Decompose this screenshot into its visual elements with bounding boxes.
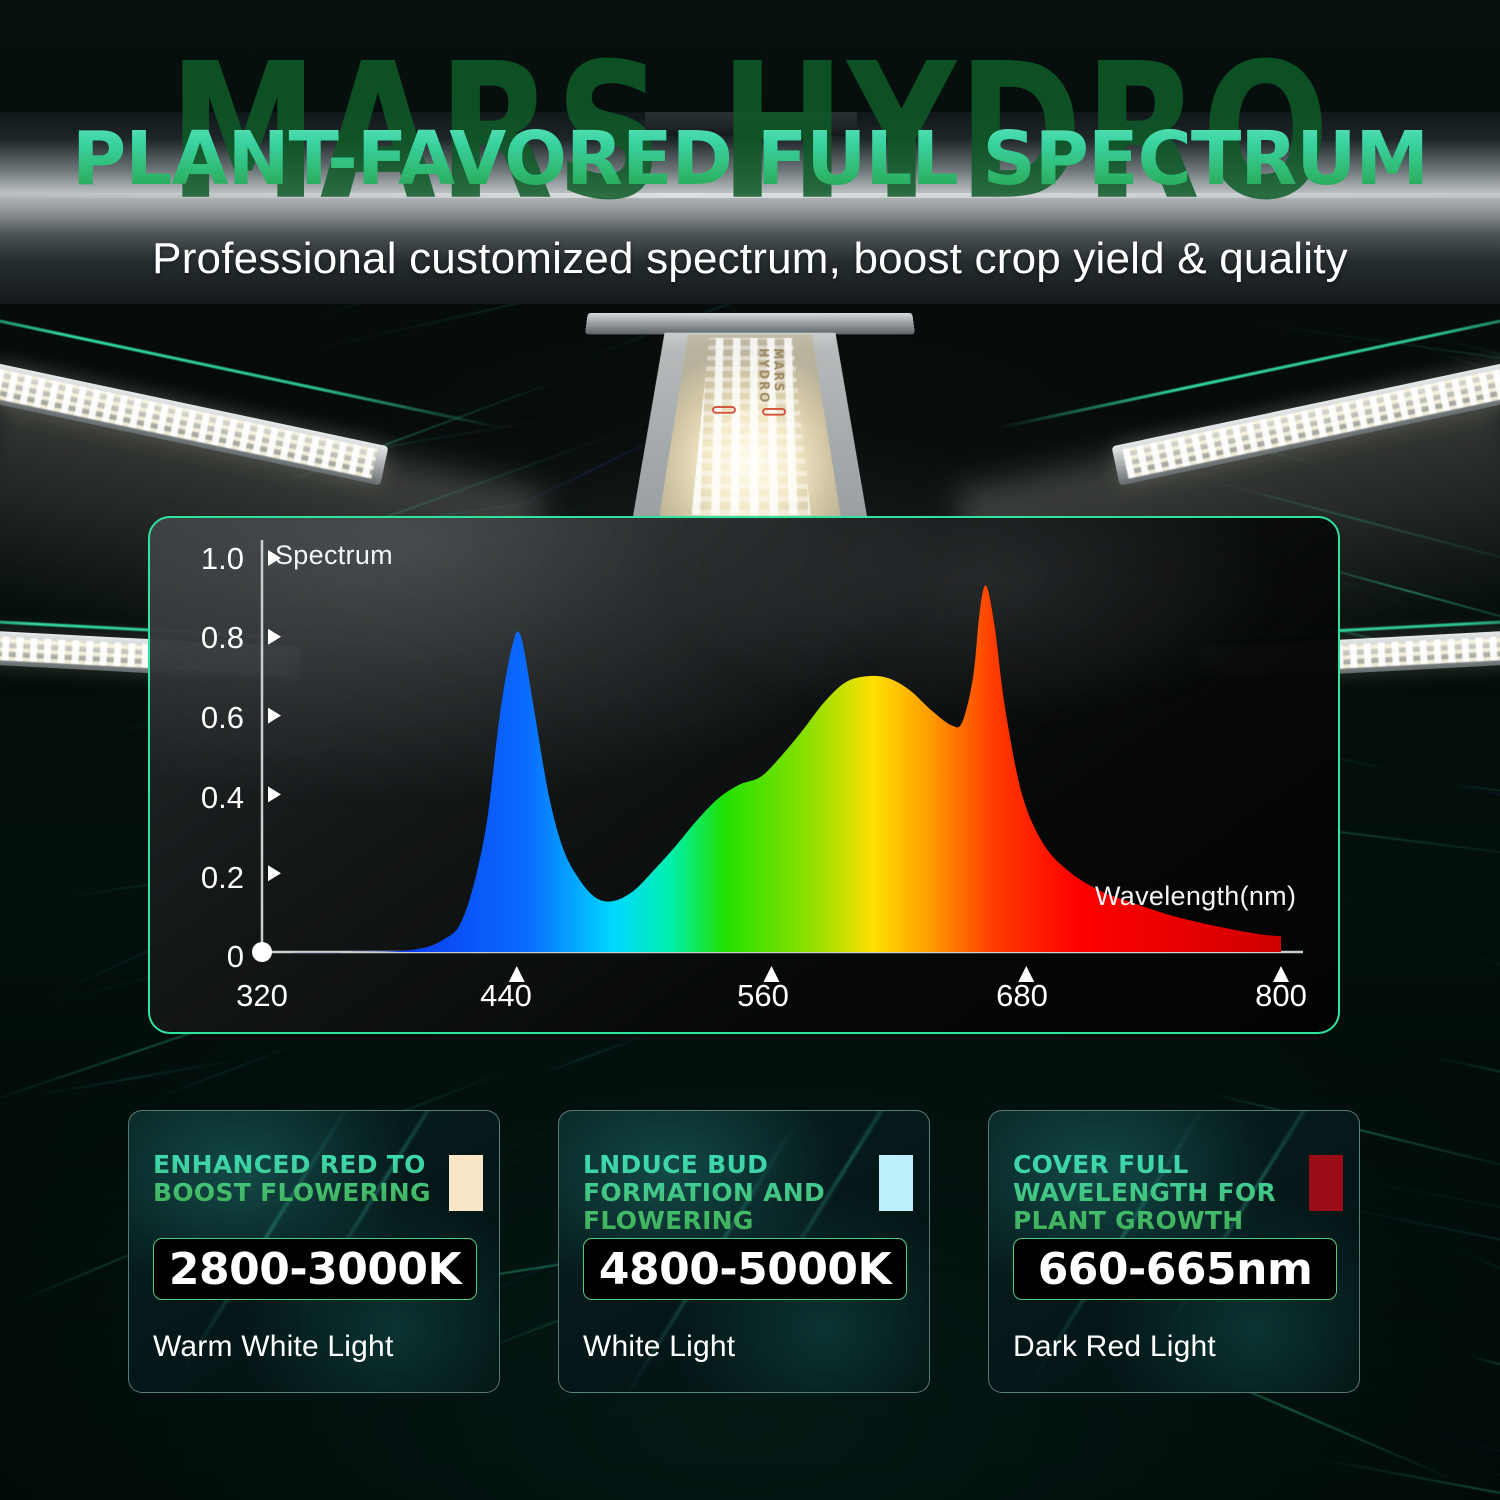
center-grow-light-fixture: MARS HYDRO [587, 313, 913, 519]
spectrum-chart-panel: 1.0 0.8 0.6 0.4 0.2 0 320 440 560 680 80… [148, 516, 1340, 1034]
card-value: 2800-3000K [169, 1244, 461, 1295]
card-value-box: 660-665nm [1013, 1238, 1337, 1300]
card-value-box: 2800-3000K [153, 1238, 477, 1300]
card-heading: ENHANCED RED TO BOOST FLOWERING [153, 1151, 433, 1207]
color-swatch-white [879, 1155, 913, 1211]
spectrum-feature-cards: ENHANCED RED TO BOOST FLOWERING 2800-300… [0, 1110, 1500, 1400]
color-swatch-warm-white [449, 1155, 483, 1211]
fixture-led-array [692, 338, 811, 515]
y-tick-0: 0 [180, 939, 244, 975]
card-caption: Dark Red Light [1013, 1330, 1216, 1364]
x-axis-label: Wavelength(nm) [1095, 881, 1296, 912]
series-label-spectrum: Spectrum [275, 540, 393, 571]
x-tick-560: 560 [708, 978, 818, 1014]
card-heading: LNDUCE BUD FORMATION AND FLOWERING [583, 1151, 863, 1235]
card-caption: Warm White Light [153, 1330, 393, 1364]
y-tick-0-2: 0.2 [180, 860, 244, 896]
x-tick-320: 320 [207, 978, 317, 1014]
x-tick-680: 680 [967, 978, 1077, 1014]
card-value-box: 4800-5000K [583, 1238, 907, 1300]
fixture-brand-label: MARS HYDRO [756, 348, 788, 455]
spectrum-chart-svg [150, 518, 1340, 1034]
feature-card-warm-white[interactable]: ENHANCED RED TO BOOST FLOWERING 2800-300… [128, 1110, 500, 1393]
y-tick-0-8: 0.8 [180, 620, 244, 656]
y-tick-0-4: 0.4 [180, 780, 244, 816]
card-caption: White Light [583, 1330, 735, 1364]
card-heading: COVER FULL WAVELENGTH FOR PLANT GROWTH [1013, 1151, 1293, 1235]
fixture-mounting-rail [585, 313, 915, 335]
y-tick-1-0: 1.0 [180, 541, 244, 577]
card-value: 660-665nm [1038, 1244, 1313, 1295]
color-swatch-dark-red [1309, 1155, 1343, 1211]
page-title: PLANT-FAVORED FULL SPECTRUM [0, 116, 1500, 202]
feature-card-dark-red[interactable]: COVER FULL WAVELENGTH FOR PLANT GROWTH 6… [988, 1110, 1360, 1393]
x-tick-800: 800 [1226, 978, 1336, 1014]
card-value: 4800-5000K [599, 1244, 891, 1295]
feature-card-white[interactable]: LNDUCE BUD FORMATION AND FLOWERING 4800-… [558, 1110, 930, 1393]
page-subtitle: Professional customized spectrum, boost … [0, 234, 1500, 284]
x-tick-440: 440 [451, 978, 561, 1014]
fixture-clip-left [712, 406, 736, 414]
y-tick-0-6: 0.6 [180, 700, 244, 736]
